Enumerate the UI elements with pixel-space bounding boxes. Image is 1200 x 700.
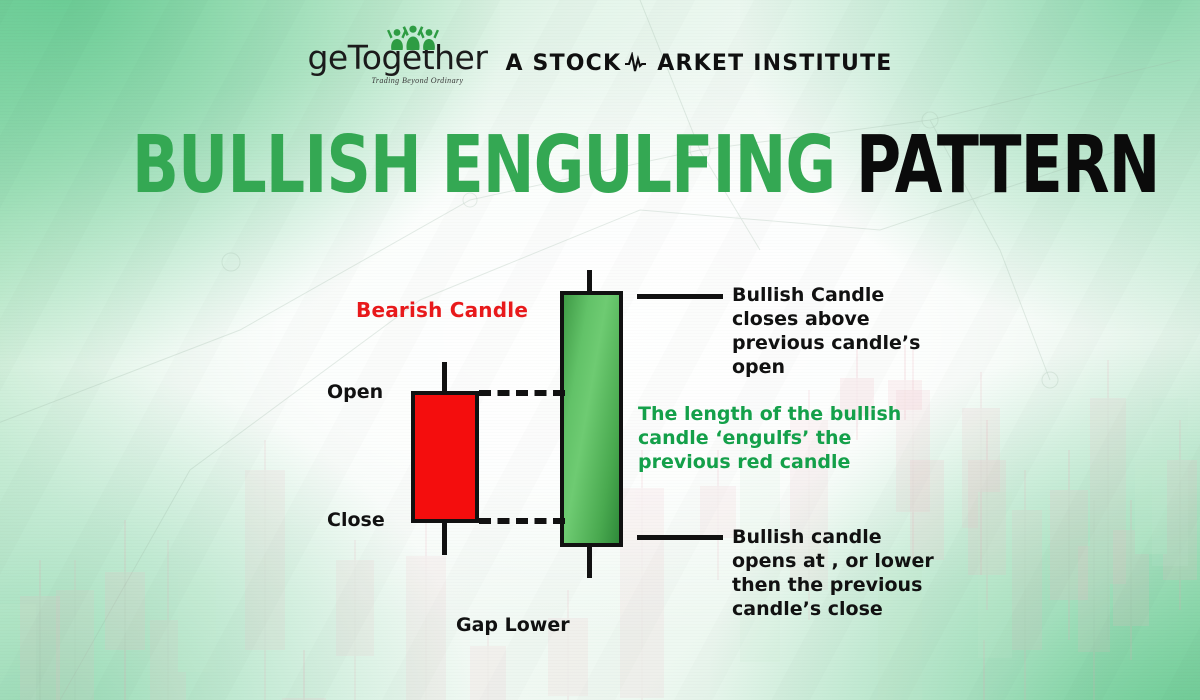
bearish-candle-upper-wick	[442, 362, 447, 393]
infographic-canvas: geTogether Trading Beyond Ordinary A STO…	[0, 0, 1200, 700]
annotation-middle-right: The length of the bullish candle ‘engulf…	[638, 403, 918, 475]
bullish-candle-lower-wick	[587, 545, 592, 578]
bullish-candle-body	[560, 291, 623, 547]
open-guide-line	[479, 390, 565, 396]
open-label: Open	[327, 381, 383, 403]
close-guide-line	[479, 518, 565, 524]
bullish-candle-upper-wick	[587, 270, 592, 293]
bearish-candle-body	[411, 391, 479, 523]
candlestick-diagram: Bearish Candle Open Close Gap Lower Bull…	[0, 0, 1200, 700]
gap-lower-label: Gap Lower	[456, 614, 570, 636]
bearish-candle-lower-wick	[442, 521, 447, 555]
leader-line-top	[637, 294, 723, 299]
annotation-bottom-right: Bullish candle opens at , or lower then …	[732, 526, 947, 622]
leader-line-bottom	[637, 535, 723, 540]
annotation-top-right: Bullish Candle closes above previous can…	[732, 284, 942, 380]
bearish-candle-label: Bearish Candle	[356, 298, 528, 322]
close-label: Close	[327, 509, 385, 531]
